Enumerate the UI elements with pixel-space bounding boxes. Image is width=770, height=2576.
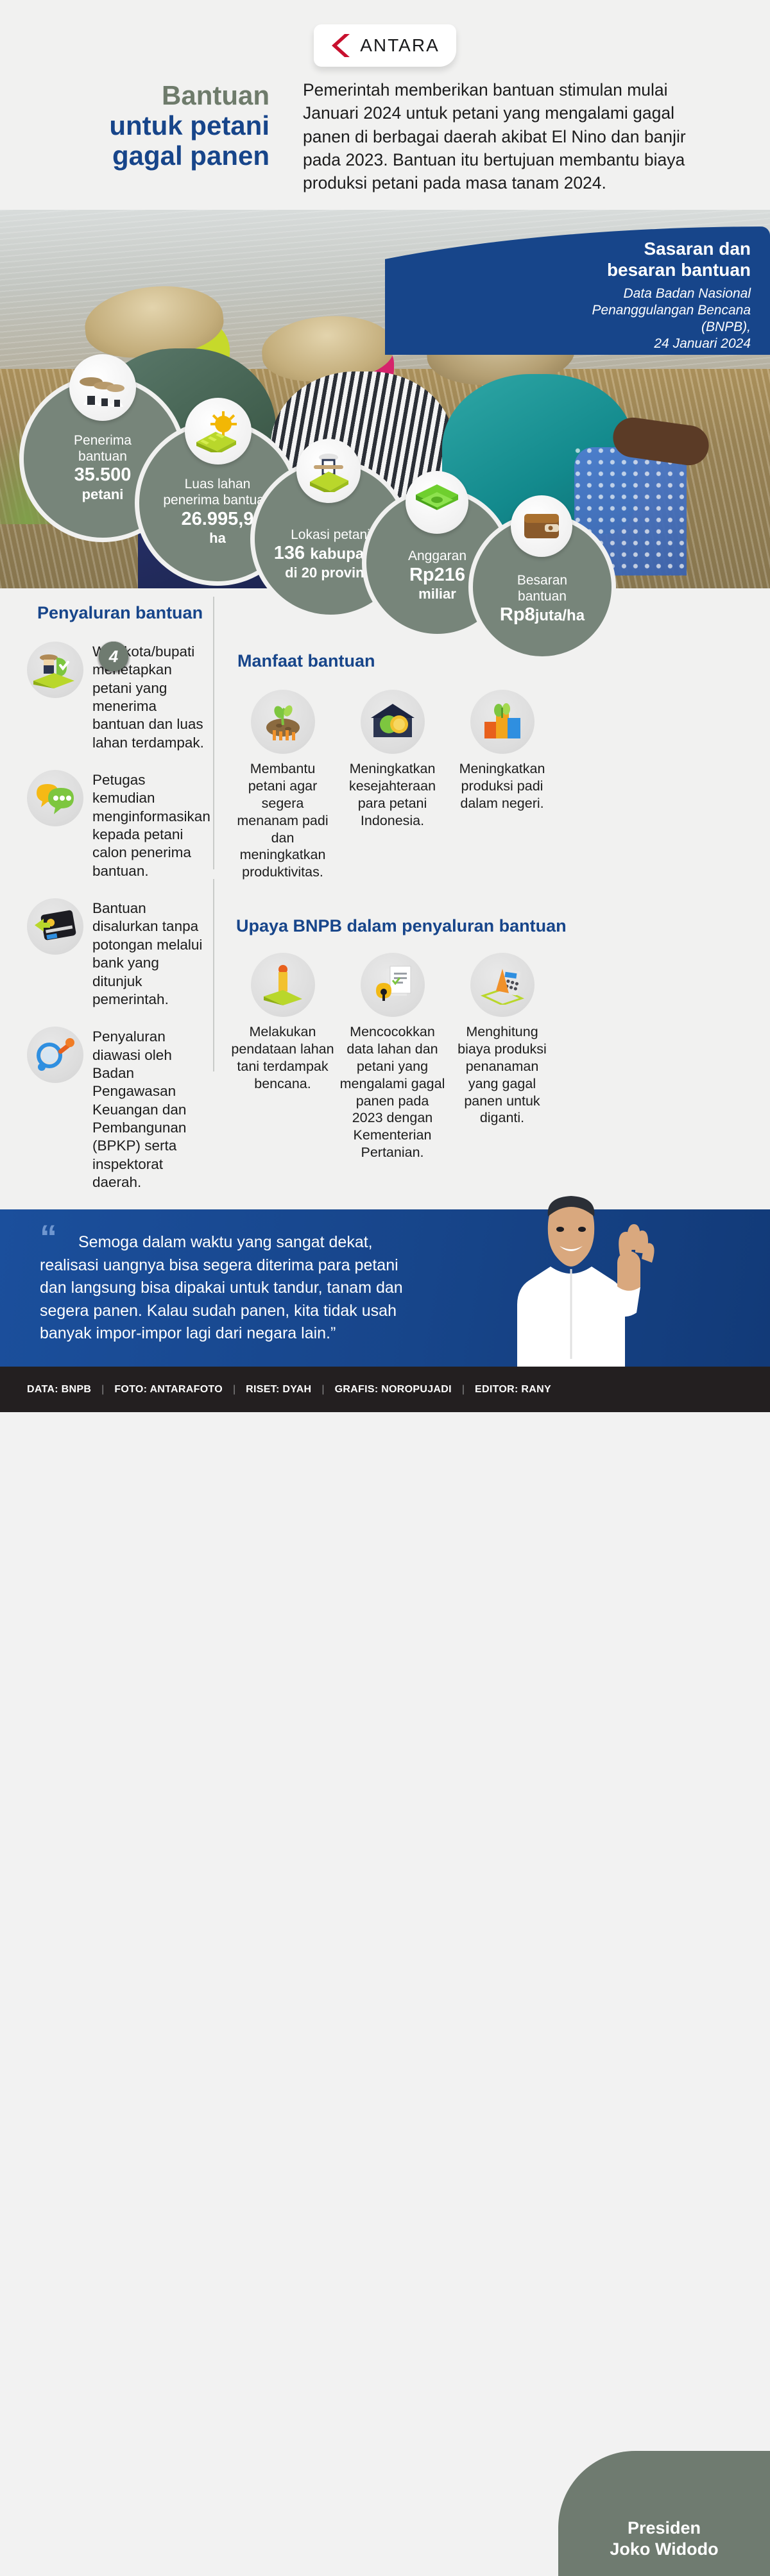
magnifier-audit-icon (27, 1027, 83, 1083)
credit-riset: RISET: DYAH (246, 1384, 311, 1395)
section-title-penyaluran: Penyaluran bantuan (37, 603, 203, 623)
section-title-upaya: Upaya BNPB dalam penyaluran bantuan (236, 916, 567, 936)
manfaat-item: Membantu petani agar segera menanam padi… (230, 690, 336, 881)
stat-label-5a: Besaran (500, 572, 585, 588)
upaya-item: Mencocokkan data lahan dan petani yang m… (339, 953, 445, 1161)
attribution-line-2: Joko Widodo (610, 2539, 718, 2559)
antara-logo: ANTARA (314, 24, 456, 67)
pencil-survey-icon (251, 953, 315, 1017)
sasaran-title-line1: Sasaran dan (539, 238, 751, 259)
step-number: 4 (99, 642, 128, 671)
stat-label-2a: Luas lahan (163, 476, 271, 492)
credit-data: DATA: BNPB (27, 1384, 91, 1395)
quote-line-2: realisasi uangnya bisa segera diterima p… (40, 1254, 483, 1277)
sasaran-source-line1: Data Badan Nasional (539, 286, 751, 302)
manfaat-item: Meningkatkan kesejahteraan para petani I… (339, 690, 445, 881)
title-line-2: untuk petani (77, 110, 269, 141)
stat-label-4a: Anggaran (408, 548, 466, 564)
intro-paragraph: Pemerintah memberikan bantuan stimulan m… (303, 78, 723, 194)
manfaat-text: Meningkatkan kesejahteraan para petani I… (339, 760, 445, 830)
house-coin-icon (361, 690, 425, 754)
growth-blocks-icon (470, 690, 535, 754)
penyaluran-steps: Wali kota/bupati menetapkan petani yang … (27, 642, 207, 1209)
manfaat-text: Meningkatkan produksi padi dalam negeri. (449, 760, 555, 812)
farmer-check-icon (27, 642, 83, 698)
section-title-manfaat: Manfaat bantuan (237, 651, 375, 671)
quote-line-5: banyak impor-impor lagi dari negara lain… (40, 1322, 483, 1345)
column-divider-top (213, 597, 214, 869)
step-text: Petugas kemudian menginformasikan kepada… (92, 770, 210, 880)
upaya-item: Melakukan pendataan lahan tani terdampak… (230, 953, 336, 1161)
column-divider-bottom (213, 879, 214, 1071)
credit-grafis: GRAFIS: NOROPUJADI (335, 1384, 452, 1395)
sasaran-source-line2: Penanggulangan Bencana (539, 302, 751, 319)
document-match-icon (361, 953, 425, 1017)
antara-logo-text: ANTARA (360, 35, 440, 56)
stat-unit-1: petani (74, 486, 132, 503)
quote-text: Semoga dalam waktu yang sangat dekat, re… (40, 1231, 483, 1345)
attribution-line-1: Presiden (628, 2518, 701, 2538)
title-line-3: gagal panen (77, 141, 269, 171)
credit-separator: | (223, 1384, 246, 1395)
manfaat-text: Membantu petani agar segera menanam padi… (230, 760, 336, 881)
sasaran-source-line4: 24 Januari 2024 (539, 336, 751, 352)
step-text: Bantuan disalurkan tanpa potongan melalu… (92, 898, 207, 1009)
step-item: Bantuan disalurkan tanpa potongan melalu… (27, 898, 207, 1009)
sasaran-source-line3: (BNPB), (539, 319, 751, 336)
stat-label-5b: bantuan (500, 588, 585, 604)
stat-value-5: Rp8juta/ha (500, 604, 585, 626)
calculator-icon (470, 953, 535, 1017)
step-item: Petugas kemudian menginformasikan kepada… (27, 770, 207, 880)
quote-line-4: segera panen. Kalau sudah panen, kita ti… (40, 1300, 483, 1323)
credit-separator: | (452, 1384, 475, 1395)
credit-editor: EDITOR: RANY (475, 1384, 551, 1395)
stat-circle-besaran: Besaran bantuan Rp8juta/ha (468, 513, 616, 661)
seed-sprout-icon (251, 690, 315, 754)
upaya-item: Menghitung biaya produksi penanaman yang… (449, 953, 555, 1161)
credit-foto: FOTO: ANTARAFOTO (114, 1384, 223, 1395)
upaya-text: Mencocokkan data lahan dan petani yang m… (339, 1023, 445, 1161)
upaya-grid: Melakukan pendataan lahan tani terdampak… (230, 953, 555, 1161)
stat-unit-5: juta/ha (535, 607, 585, 624)
stat-label-1b: bantuan (74, 448, 132, 465)
step-item: Penyaluran diawasi oleh Badan Pengawasan… (27, 1027, 207, 1191)
upaya-text: Melakukan pendataan lahan tani terdampak… (230, 1023, 336, 1093)
quote-attribution: Presiden Joko Widodo (558, 2451, 770, 2576)
title-line-1: Bantuan (77, 80, 269, 110)
manfaat-grid: Membantu petani agar segera menanam padi… (230, 690, 555, 881)
stat-label-1a: Penerima (74, 432, 132, 448)
chat-bubbles-icon (27, 770, 83, 826)
page-title: Bantuan untuk petani gagal panen (77, 80, 269, 171)
bank-card-icon (27, 898, 83, 955)
credit-separator: | (311, 1384, 334, 1395)
quote-line-1: Semoga dalam waktu yang sangat dekat, (40, 1231, 483, 1254)
antara-logo-icon (330, 33, 352, 58)
stat-value-4: Rp216 (408, 565, 466, 586)
stat-label-2b: penerima bantuan (163, 492, 271, 508)
quote-band: “ Semoga dalam waktu yang sangat dekat, … (0, 1209, 770, 1367)
step-text: Penyaluran diawasi oleh Badan Pengawasan… (92, 1027, 207, 1191)
footer-credits: DATA: BNPB | FOTO: ANTARAFOTO | RISET: D… (0, 1367, 770, 1412)
stat-value-1: 35.500 (74, 465, 132, 486)
stat-unit-4: miliar (408, 586, 466, 602)
sasaran-title-line2: besaran bantuan (539, 259, 751, 280)
president-portrait (475, 1174, 667, 1367)
infographic-page: Sasaran dan besaran bantuan Data Badan N… (0, 0, 770, 1412)
manfaat-item: Meningkatkan produksi padi dalam negeri. (449, 690, 555, 881)
credit-separator: | (91, 1384, 114, 1395)
upaya-text: Menghitung biaya produksi penanaman yang… (449, 1023, 555, 1127)
quote-line-3: dan langsung bisa dipakai untuk tandur, … (40, 1277, 483, 1300)
